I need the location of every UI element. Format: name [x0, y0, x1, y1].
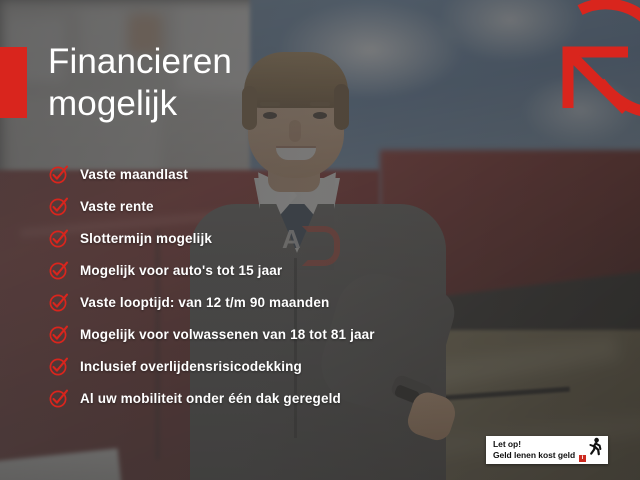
list-item-label: Al uw mobiliteit onder één dak geregeld	[80, 391, 341, 406]
red-accent-square	[0, 47, 27, 118]
check-circle-icon	[48, 355, 70, 377]
check-circle-icon	[48, 323, 70, 345]
list-item: Vaste maandlast	[48, 158, 518, 190]
page-title: Financieren mogelijk	[48, 41, 388, 124]
warning-line-1: Let op!	[493, 439, 579, 450]
check-circle-icon	[48, 227, 70, 249]
list-item-label: Vaste rente	[80, 199, 154, 214]
check-circle-icon	[48, 163, 70, 185]
warning-flag-icon: i	[579, 455, 586, 462]
check-circle-icon	[48, 387, 70, 409]
red-arrow-arc-logo	[556, 0, 640, 122]
list-item-label: Mogelijk voor volwassenen van 18 tot 81 …	[80, 327, 375, 342]
list-item: Mogelijk voor volwassenen van 18 tot 81 …	[48, 318, 518, 350]
feature-list: Vaste maandlast Vaste rente Slottermijn …	[48, 158, 518, 414]
list-item: Slottermijn mogelijk	[48, 222, 518, 254]
title-line-2: mogelijk	[48, 83, 388, 125]
title-line-1: Financieren	[48, 41, 388, 83]
list-item: Mogelijk voor auto's tot 15 jaar	[48, 254, 518, 286]
list-item: Vaste looptijd: van 12 t/m 90 maanden	[48, 286, 518, 318]
warning-icon-group: i	[579, 437, 603, 463]
list-item-label: Vaste looptijd: van 12 t/m 90 maanden	[80, 295, 329, 310]
list-item: Vaste rente	[48, 190, 518, 222]
promo-slide: A F	[0, 0, 640, 480]
list-item-label: Slottermijn mogelijk	[80, 231, 212, 246]
list-item-label: Vaste maandlast	[80, 167, 188, 182]
walking-person-icon	[587, 437, 603, 462]
warning-text: Let op! Geld lenen kost geld	[493, 439, 579, 461]
list-item-label: Inclusief overlijdensrisicodekking	[80, 359, 302, 374]
list-item: Inclusief overlijdensrisicodekking	[48, 350, 518, 382]
check-circle-icon	[48, 195, 70, 217]
warning-line-2: Geld lenen kost geld	[493, 450, 579, 461]
status-badge: Let op! Geld lenen kost geld i	[486, 436, 608, 464]
list-item: Al uw mobiliteit onder één dak geregeld	[48, 382, 518, 414]
check-circle-icon	[48, 291, 70, 313]
check-circle-icon	[48, 259, 70, 281]
list-item-label: Mogelijk voor auto's tot 15 jaar	[80, 263, 282, 278]
